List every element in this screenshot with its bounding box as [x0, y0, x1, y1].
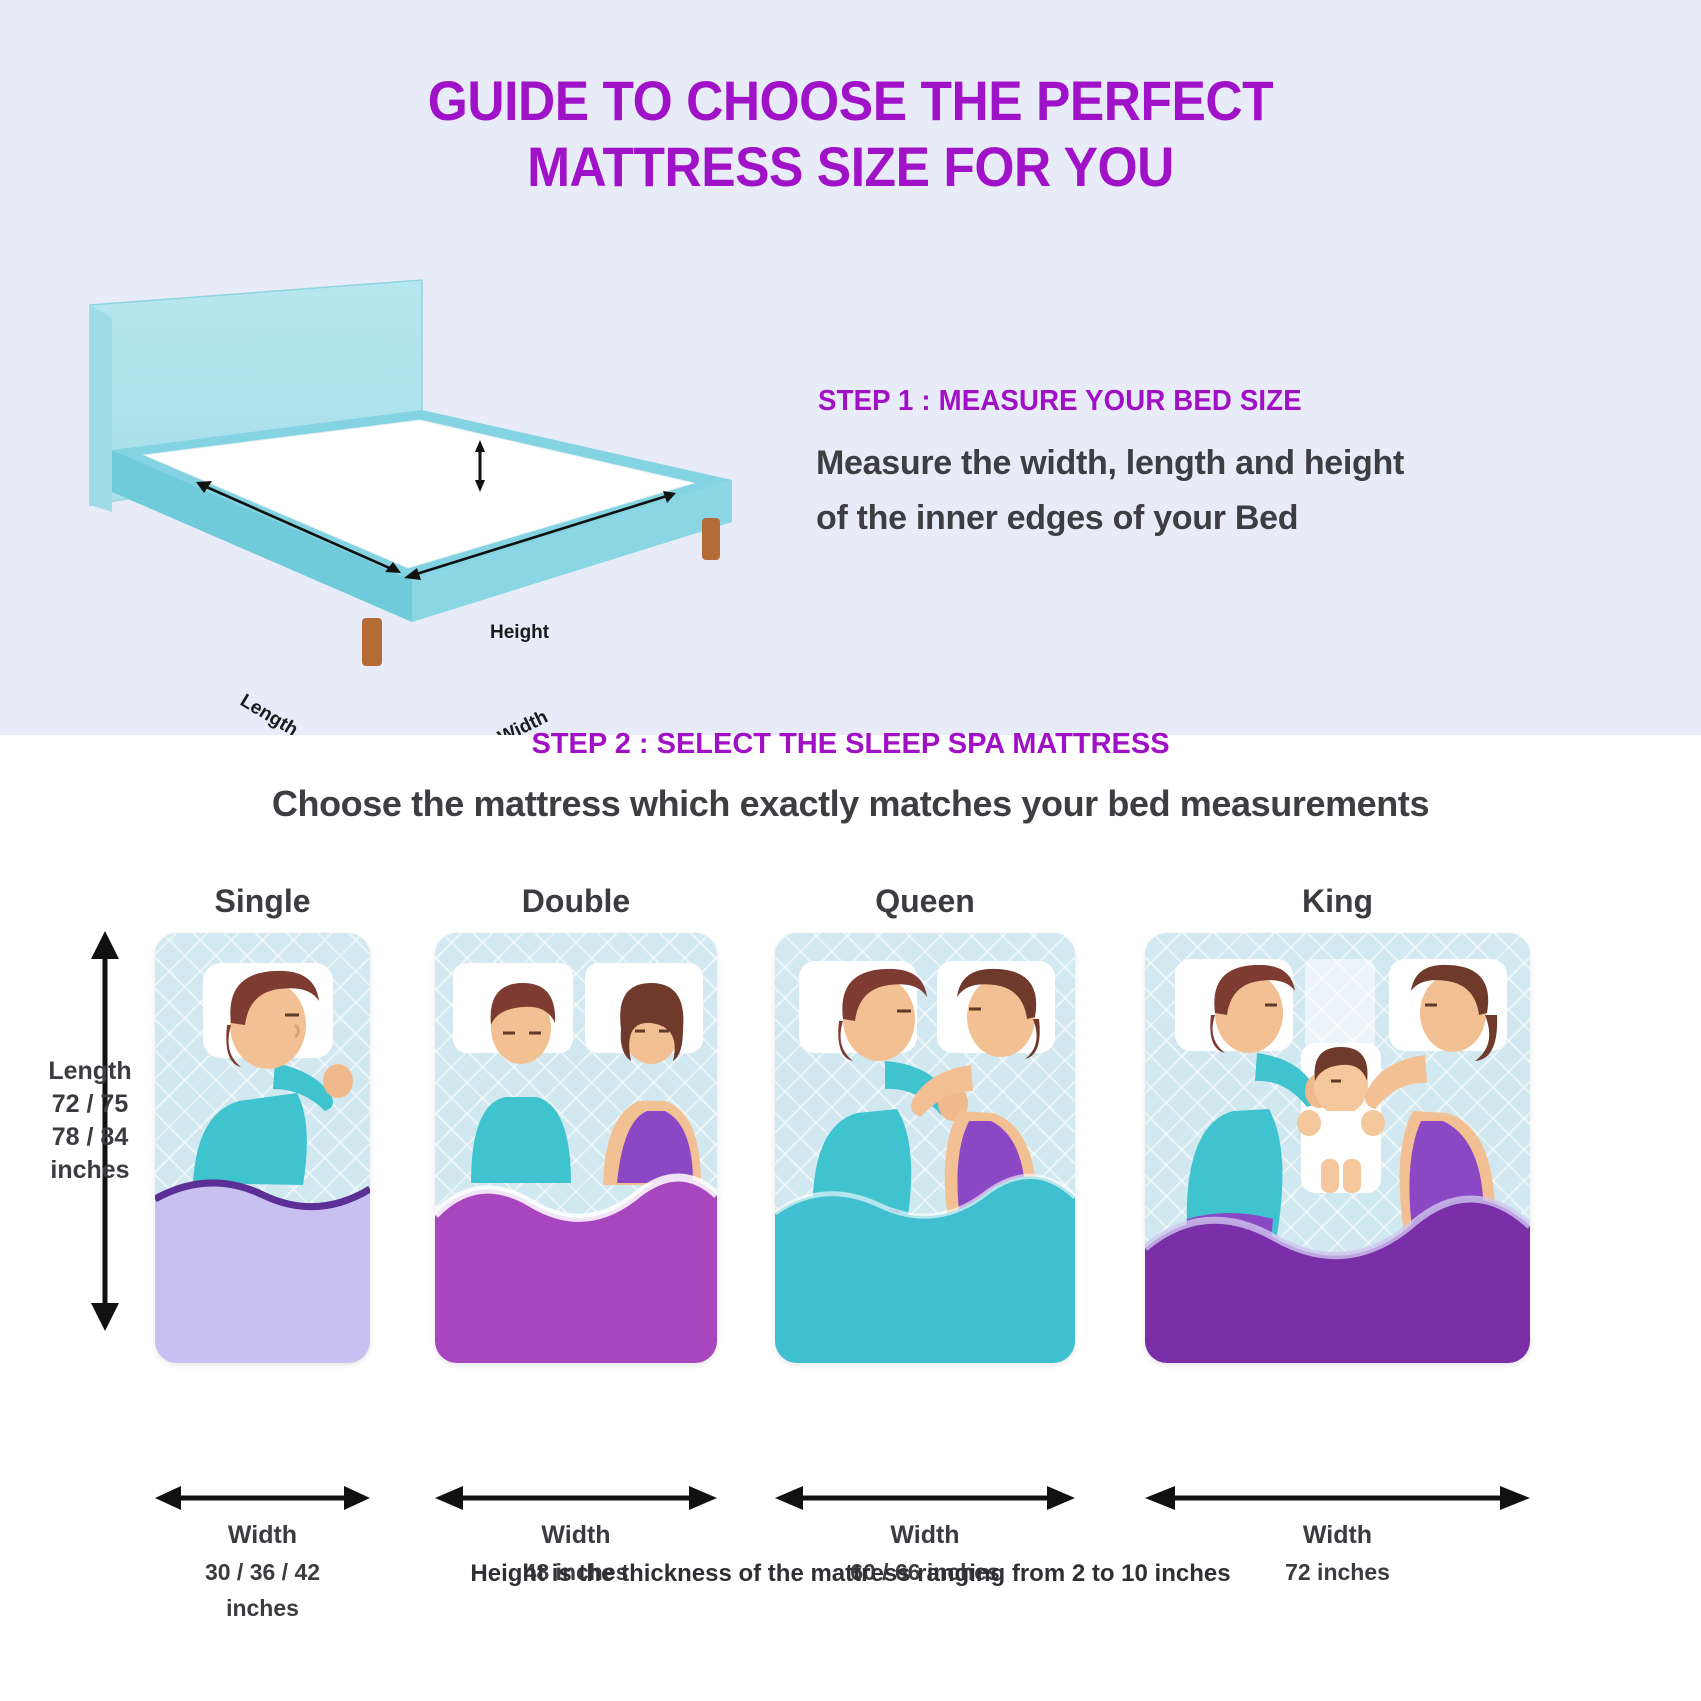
- bed-label-height: Height: [490, 622, 549, 644]
- blanket-king: [1145, 1188, 1530, 1363]
- step1-heading: STEP 1 : MEASURE YOUR BED SIZE: [818, 385, 1302, 418]
- mattress-illustration-king: [1145, 933, 1530, 1363]
- section-step1: GUIDE TO CHOOSE THE PERFECT MATTRESS SIZ…: [0, 0, 1701, 735]
- blanket-queen: [775, 1173, 1075, 1363]
- length-axis-label: Length 72 / 75 78 / 84 inches: [0, 1055, 180, 1187]
- mattress-title-king: King: [1145, 883, 1530, 920]
- bed-illustration-svg: [72, 250, 772, 670]
- width-arrow-king: [1145, 1483, 1530, 1513]
- width-arrow-queen: [775, 1483, 1075, 1513]
- title-line-1: GUIDE TO CHOOSE THE PERFECT: [428, 69, 1273, 132]
- width-label-king: Width: [1145, 1521, 1530, 1550]
- length-axis-unit: inches: [0, 1154, 180, 1187]
- length-axis-values-1: 72 / 75: [0, 1088, 180, 1121]
- mattress-title-double: Double: [435, 883, 717, 920]
- infographic-page: GUIDE TO CHOOSE THE PERFECT MATTRESS SIZ…: [0, 0, 1701, 1701]
- length-axis-values-2: 78 / 84: [0, 1121, 180, 1154]
- width-arrow-double: [435, 1483, 717, 1513]
- blanket-single: [155, 1163, 370, 1363]
- mattress-comparison: Length 72 / 75 78 / 84 inches Single: [0, 735, 1701, 1701]
- section-step2: STEP 2 : SELECT THE SLEEP SPA MATTRESS C…: [0, 735, 1701, 1701]
- step1-body-line-2: of the inner edges of your Bed: [816, 491, 1556, 546]
- title-line-2: MATTRESS SIZE FOR YOU: [68, 134, 1633, 200]
- footer-note: Height is the thickness of the mattress …: [0, 1560, 1701, 1588]
- mattress-illustration-double: [435, 933, 717, 1363]
- step1-body-line-1: Measure the width, length and height: [816, 436, 1556, 491]
- width-unit-single: inches: [155, 1595, 370, 1622]
- mattress-illustration-queen: [775, 933, 1075, 1363]
- width-label-double: Width: [435, 1521, 717, 1550]
- page-title: GUIDE TO CHOOSE THE PERFECT MATTRESS SIZ…: [68, 68, 1633, 200]
- mattress-title-queen: Queen: [775, 883, 1075, 920]
- width-label-single: Width: [155, 1521, 370, 1550]
- mattress-title-single: Single: [155, 883, 370, 920]
- width-arrow-single: [155, 1483, 370, 1513]
- length-axis-title: Length: [0, 1055, 180, 1088]
- width-label-queen: Width: [775, 1521, 1075, 1550]
- mattress-illustration-single: [155, 933, 370, 1363]
- bed-diagram: Height Length Width: [72, 250, 772, 670]
- blanket-double: [435, 1163, 717, 1363]
- step1-body: Measure the width, length and height of …: [816, 436, 1556, 546]
